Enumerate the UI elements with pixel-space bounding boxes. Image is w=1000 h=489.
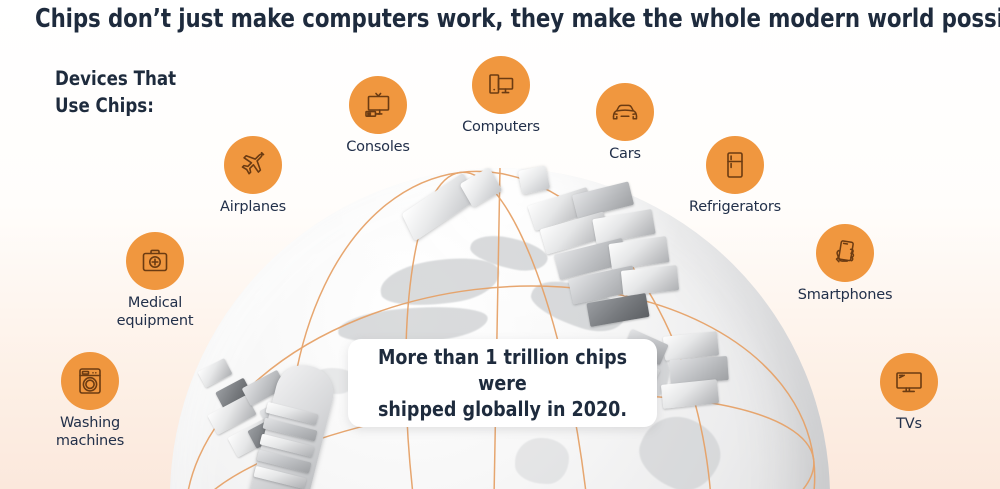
shipping-container: [215, 378, 253, 411]
device-node-airplanes[interactable]: Airplanes: [224, 136, 282, 194]
device-label-computers: Computers: [462, 118, 540, 136]
device-label-airplanes: Airplanes: [220, 198, 286, 216]
device-node-computers[interactable]: Computers: [472, 56, 530, 114]
label-line2: machines: [56, 433, 124, 449]
device-node-refrigerators[interactable]: Refrigerators: [706, 136, 764, 194]
devices-section-label: Devices That Use Chips:: [55, 65, 176, 119]
continent-shape: [515, 438, 569, 484]
ship-container-row: [262, 418, 317, 442]
television-icon[interactable]: [880, 353, 938, 411]
device-label-smartphones: Smartphones: [798, 286, 893, 304]
continent-shape: [468, 230, 551, 276]
cargo-truck-second: [518, 165, 550, 194]
device-label-medical-equipment: Medical equipment: [100, 294, 210, 330]
infographic-canvas: Chips don’t just make computers work, th…: [0, 0, 1000, 489]
shipping-container: [247, 415, 286, 449]
label-line1: Medical: [128, 295, 182, 311]
device-label-tvs: TVs: [896, 415, 922, 433]
airplane-icon[interactable]: [224, 136, 282, 194]
shipping-container: [572, 181, 634, 218]
washing-machine-icon[interactable]: [61, 352, 119, 410]
callout-line1: More than 1 trillion chips were: [378, 345, 627, 395]
page-title: Chips don’t just make computers work, th…: [35, 4, 965, 34]
device-node-smartphones[interactable]: Smartphones: [816, 224, 874, 282]
shipping-container: [228, 416, 279, 457]
game-console-icon[interactable]: [349, 76, 407, 134]
device-node-tvs[interactable]: TVs: [880, 353, 938, 411]
container-ship-hull: [247, 359, 340, 489]
cargo-truck-trailer: [402, 173, 477, 242]
label-line2: equipment: [117, 313, 194, 329]
continent-shape: [526, 272, 630, 340]
shipping-container: [663, 331, 719, 361]
devices-label-line1: Devices That: [55, 65, 176, 92]
ship-container-row: [256, 450, 311, 474]
shipping-container: [259, 391, 306, 430]
globe-sphere: [170, 168, 830, 489]
cargo-truck-cab: [460, 167, 503, 207]
label-line1: Washing: [60, 415, 120, 431]
device-label-cars: Cars: [609, 145, 641, 163]
continent-shape: [378, 252, 503, 312]
ship-container-row: [259, 434, 314, 458]
shipping-container: [669, 356, 729, 384]
device-node-consoles[interactable]: Consoles: [349, 76, 407, 134]
globe-illustration: [170, 168, 830, 489]
statistic-callout: More than 1 trillion chips were shipped …: [348, 339, 657, 427]
smartphone-in-hand-icon[interactable]: [816, 224, 874, 282]
shipping-container: [242, 370, 287, 406]
car-icon[interactable]: [596, 83, 654, 141]
shipping-container: [207, 395, 256, 435]
shipping-container: [592, 209, 655, 244]
device-node-washing-machines[interactable]: Washing machines: [61, 352, 119, 410]
devices-label-line2: Use Chips:: [55, 92, 176, 119]
shipping-container: [661, 379, 719, 409]
first-aid-kit-icon[interactable]: [126, 232, 184, 290]
shipping-container: [540, 211, 611, 254]
shipping-container: [568, 265, 638, 304]
desktop-computer-icon[interactable]: [472, 56, 530, 114]
shipping-container: [621, 265, 679, 296]
shipping-container: [198, 358, 233, 388]
callout-text: More than 1 trillion chips were shipped …: [371, 344, 634, 422]
callout-line2: shipped globally in 2020.: [378, 397, 627, 421]
shipping-container: [608, 236, 669, 270]
globe-grid-lines: [170, 168, 830, 489]
device-label-consoles: Consoles: [346, 138, 410, 156]
globe-highlight: [170, 168, 830, 489]
device-label-refrigerators: Refrigerators: [689, 198, 781, 216]
ship-container-row: [265, 402, 318, 425]
ship-container-row: [253, 466, 306, 489]
shipping-container: [554, 238, 628, 280]
device-label-washing-machines: Washing machines: [42, 414, 138, 450]
shipping-container: [528, 187, 595, 231]
refrigerator-icon[interactable]: [706, 136, 764, 194]
device-node-cars[interactable]: Cars: [596, 83, 654, 141]
device-node-medical-equipment[interactable]: Medical equipment: [126, 232, 184, 290]
shipping-container: [586, 293, 649, 327]
